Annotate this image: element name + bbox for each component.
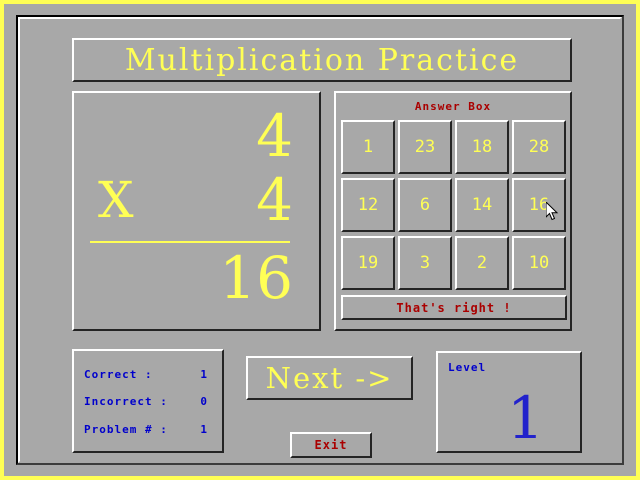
answer-button[interactable]: 28: [512, 120, 566, 174]
page-title: Multiplication Practice: [125, 43, 519, 78]
answer-button[interactable]: 1: [341, 120, 395, 174]
answer-button[interactable]: 6: [398, 178, 452, 232]
answer-button[interactable]: 19: [341, 236, 395, 290]
score-value-problem-number: 1: [200, 423, 214, 436]
answer-button[interactable]: 18: [455, 120, 509, 174]
score-label-problem-number: Problem # :: [84, 423, 168, 436]
score-value-correct: 1: [200, 368, 214, 381]
answer-button[interactable]: 14: [455, 178, 509, 232]
level-panel: Level 1: [436, 351, 582, 453]
level-value: 1: [507, 387, 544, 449]
status-message: That's right !: [341, 295, 567, 320]
problem-divider-line: [90, 241, 290, 243]
answer-button[interactable]: 2: [455, 236, 509, 290]
answer-button[interactable]: 16: [512, 178, 566, 232]
answer-button[interactable]: 12: [341, 178, 395, 232]
next-button[interactable]: Next ->: [246, 356, 413, 400]
problem-display: 4 X 4 16: [74, 93, 319, 329]
score-value-incorrect: 0: [200, 395, 214, 408]
answer-button[interactable]: 3: [398, 236, 452, 290]
problem-operand-2: 4: [74, 171, 319, 229]
answer-box-label: Answer Box: [336, 100, 570, 113]
exit-button[interactable]: Exit: [290, 432, 372, 458]
score-panel: Correct : 1 Incorrect : 0 Problem # : 1: [72, 349, 224, 453]
score-label-correct: Correct :: [84, 368, 153, 381]
score-row-incorrect: Incorrect : 0: [84, 395, 214, 408]
exit-button-label: Exit: [315, 438, 348, 452]
title-bar-inner: Multiplication Practice: [74, 40, 570, 80]
score-label-incorrect: Incorrect :: [84, 395, 168, 408]
problem-answer: 16: [74, 249, 319, 307]
answer-button-grid: 1 23 18 28 12 6 14 16 19 3 2 10: [341, 120, 567, 290]
score-list: Correct : 1 Incorrect : 0 Problem # : 1: [84, 361, 214, 443]
problem-panel: 4 X 4 16: [72, 91, 321, 331]
score-row-correct: Correct : 1: [84, 368, 214, 381]
problem-operand-1: 4: [74, 107, 319, 165]
answer-button[interactable]: 10: [512, 236, 566, 290]
next-button-label: Next ->: [266, 361, 394, 395]
application-window: Multiplication Practice 4 X 4 16 Answer …: [0, 0, 640, 480]
desktop-background: Multiplication Practice 4 X 4 16 Answer …: [4, 4, 636, 476]
level-label: Level: [448, 361, 486, 374]
title-bar: Multiplication Practice: [72, 38, 572, 82]
score-row-problem-number: Problem # : 1: [84, 423, 214, 436]
window-frame: Multiplication Practice 4 X 4 16 Answer …: [16, 15, 624, 465]
answer-button[interactable]: 23: [398, 120, 452, 174]
answer-box-panel: Answer Box 1 23 18 28 12 6 14 16 19 3 2 …: [334, 91, 572, 331]
